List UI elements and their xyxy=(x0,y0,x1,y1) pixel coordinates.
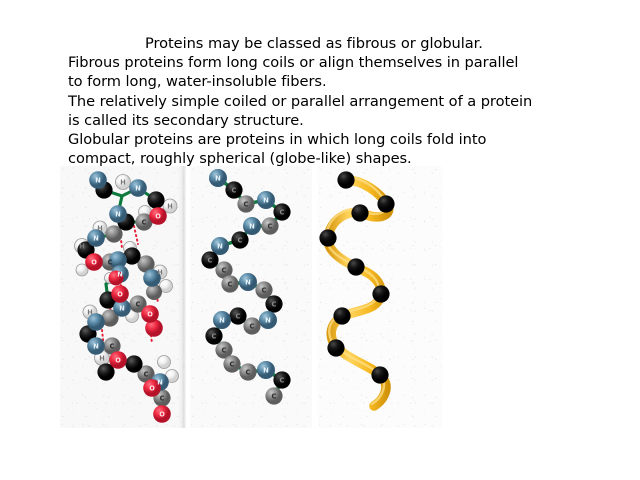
svg-text:N: N xyxy=(263,366,269,374)
svg-text:N: N xyxy=(135,184,141,192)
svg-text:C: C xyxy=(246,368,251,376)
ribbon-model-svg xyxy=(318,166,442,428)
svg-text:O: O xyxy=(159,410,165,418)
svg-text:C: C xyxy=(136,300,141,308)
svg-text:N: N xyxy=(249,222,255,230)
svg-text:C: C xyxy=(142,218,147,226)
svg-text:N: N xyxy=(95,176,101,184)
svg-text:N: N xyxy=(157,378,163,386)
svg-text:N: N xyxy=(115,210,121,218)
svg-text:C: C xyxy=(144,370,149,378)
svg-text:C: C xyxy=(268,222,273,230)
figure-strip: N N N N N N N N O O O O O O O C C xyxy=(60,166,442,428)
svg-text:C: C xyxy=(232,186,237,194)
svg-text:N: N xyxy=(93,234,99,242)
svg-text:N: N xyxy=(219,316,225,324)
svg-text:C: C xyxy=(262,286,267,294)
svg-text:O: O xyxy=(117,290,123,298)
svg-text:C: C xyxy=(238,236,243,244)
svg-text:C: C xyxy=(280,376,285,384)
text-line-3: to form long, water-insoluble fibers. xyxy=(0,72,640,91)
svg-text:C: C xyxy=(244,200,249,208)
svg-text:C: C xyxy=(208,256,213,264)
svg-text:H: H xyxy=(157,268,163,276)
svg-text:N: N xyxy=(265,316,271,324)
figure-backbone-model: N N N N N N N N C C C C C C C C C xyxy=(190,166,312,428)
svg-text:C: C xyxy=(250,322,255,330)
svg-text:H: H xyxy=(167,202,173,210)
svg-text:N: N xyxy=(117,270,123,278)
svg-text:H: H xyxy=(87,308,93,316)
svg-text:C: C xyxy=(272,300,277,308)
svg-text:H: H xyxy=(97,224,103,232)
figure-full-atomic-model: N N N N N N N N O O O O O O O C C xyxy=(60,166,186,428)
svg-text:C: C xyxy=(160,394,165,402)
svg-text:O: O xyxy=(149,384,155,392)
svg-text:C: C xyxy=(230,360,235,368)
figure-ribbon-model xyxy=(318,166,442,428)
text-line-6: Globular proteins are proteins in which … xyxy=(0,130,640,149)
svg-text:O: O xyxy=(115,356,121,364)
slide-canvas: Proteins may be classed as fibrous or gl… xyxy=(0,0,640,480)
svg-text:N: N xyxy=(245,278,251,286)
svg-text:C: C xyxy=(108,258,113,266)
svg-text:C: C xyxy=(222,346,227,354)
svg-text:N: N xyxy=(215,174,221,182)
svg-text:H: H xyxy=(99,354,105,362)
text-line-4: The relatively simple coiled or parallel… xyxy=(0,92,640,111)
svg-text:O: O xyxy=(147,310,153,318)
svg-text:H: H xyxy=(120,178,126,186)
svg-text:C: C xyxy=(212,332,217,340)
svg-text:N: N xyxy=(119,304,125,312)
svg-text:C: C xyxy=(280,208,285,216)
svg-text:H: H xyxy=(79,242,85,250)
text-line-2: Fibrous proteins form long coils or alig… xyxy=(0,53,640,72)
svg-text:C: C xyxy=(228,280,233,288)
svg-text:O: O xyxy=(155,212,161,220)
svg-text:N: N xyxy=(93,342,99,350)
svg-text:C: C xyxy=(110,342,115,350)
body-text-block: Proteins may be classed as fibrous or gl… xyxy=(0,34,640,168)
text-line-5: is called its secondary structure. xyxy=(0,111,640,130)
backbone-model-svg: N N N N N N N N C C C C C C C C C xyxy=(190,166,312,428)
svg-text:O: O xyxy=(91,258,97,266)
svg-text:C: C xyxy=(222,266,227,274)
svg-text:C: C xyxy=(236,312,241,320)
full-atomic-model-svg: N N N N N N N N O O O O O O O C C xyxy=(60,166,186,428)
svg-text:N: N xyxy=(217,242,223,250)
text-line-1: Proteins may be classed as fibrous or gl… xyxy=(0,34,640,53)
svg-text:C: C xyxy=(272,392,277,400)
page-edge-shadow xyxy=(178,166,186,428)
svg-text:N: N xyxy=(263,196,269,204)
alpha-carbon-spheres xyxy=(319,171,394,383)
